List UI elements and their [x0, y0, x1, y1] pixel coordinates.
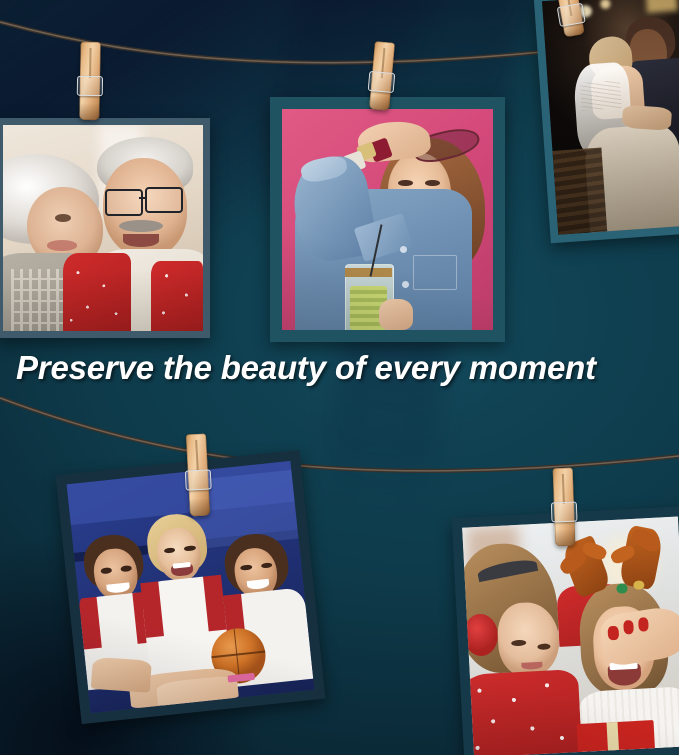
- photo-elderly-couple[interactable]: [0, 118, 210, 338]
- photo-young-woman-denim[interactable]: [270, 97, 505, 342]
- peg-top-left[interactable]: [79, 42, 100, 120]
- photo-wedding-dance[interactable]: [533, 0, 679, 243]
- banner-stage: Preserve the beauty of every moment: [0, 0, 679, 755]
- peg-bottom-right[interactable]: [553, 468, 576, 547]
- page-headline: Preserve the beauty of every moment: [16, 349, 676, 387]
- peg-bottom-left[interactable]: [186, 434, 210, 517]
